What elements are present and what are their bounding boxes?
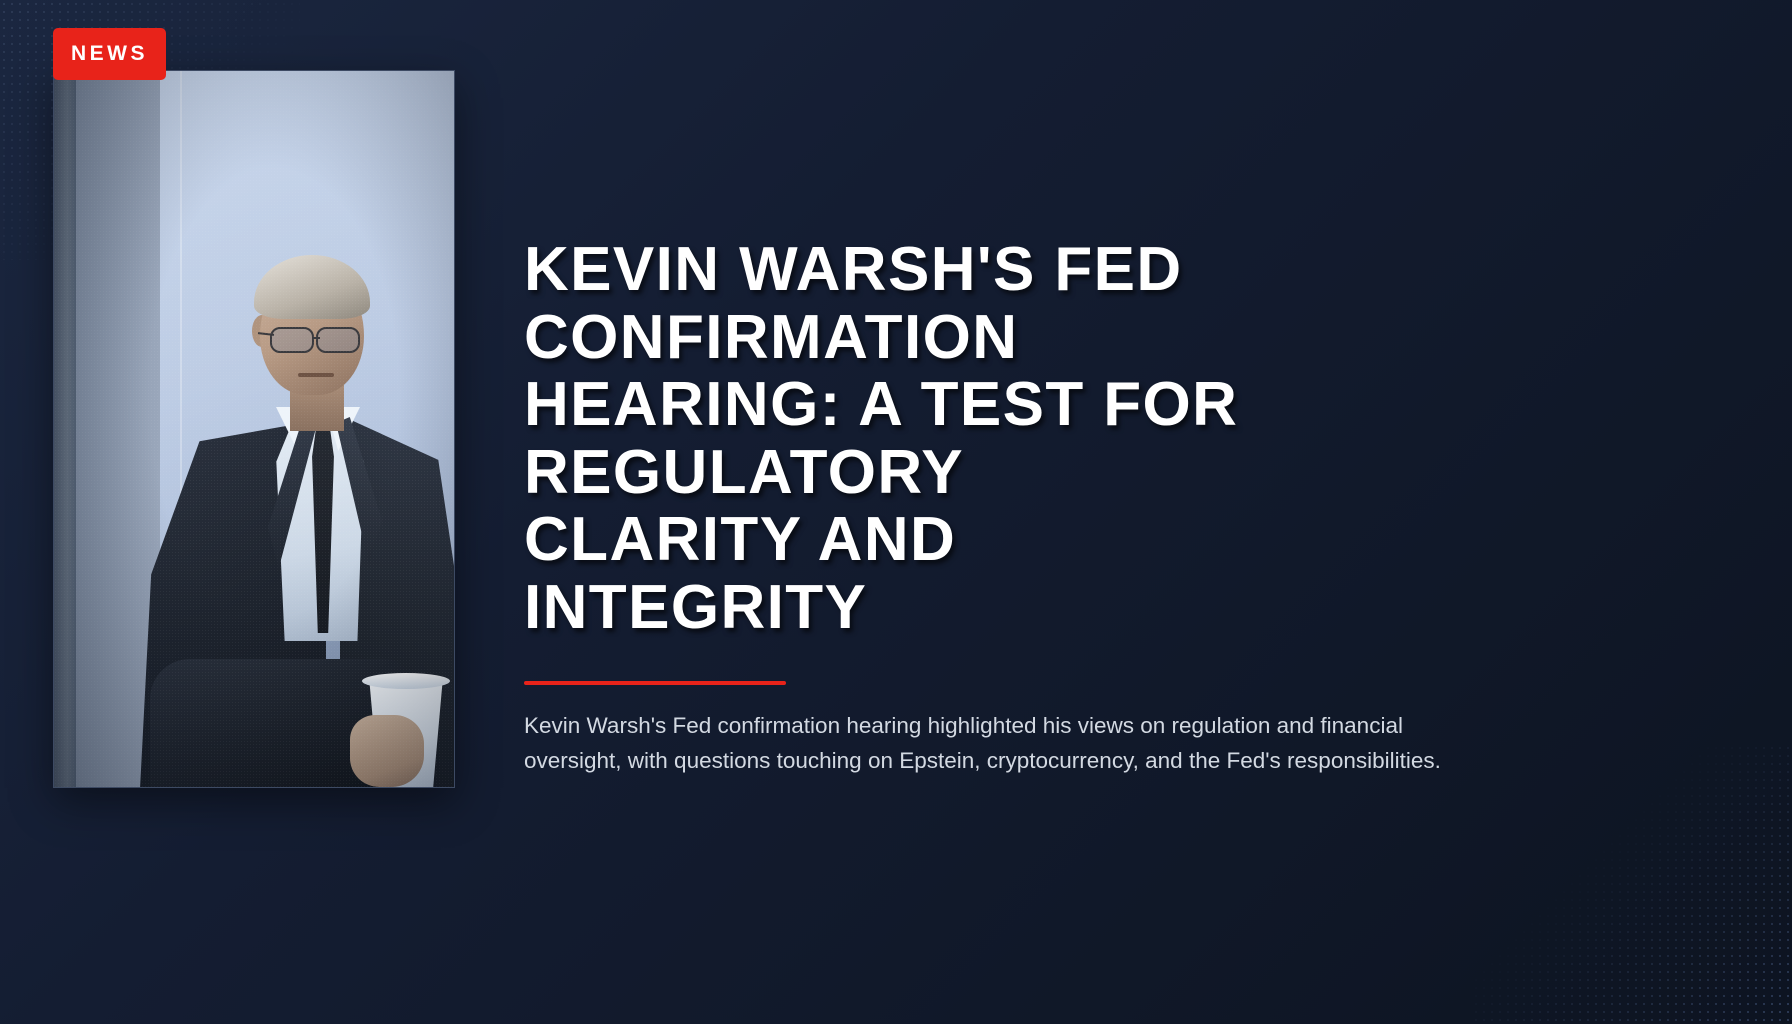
hand xyxy=(350,715,424,787)
dot-texture-bottom-right xyxy=(1472,744,1792,1024)
eyeglasses-right-lens xyxy=(316,327,360,353)
news-card: NEWS xyxy=(0,0,1792,1024)
news-badge-label: NEWS xyxy=(71,42,148,66)
eyeglasses-bridge xyxy=(312,337,320,339)
news-badge: NEWS xyxy=(53,28,166,80)
article-content: Kevin Warsh's Fed Confirmation Hearing: … xyxy=(524,236,1464,778)
paper-cup-rim xyxy=(362,673,450,689)
article-photo-frame xyxy=(53,70,455,788)
mouth xyxy=(298,373,334,377)
photo-subject xyxy=(54,71,454,787)
article-photo xyxy=(54,71,454,787)
eyeglasses-left-lens xyxy=(270,327,314,353)
accent-divider xyxy=(524,681,786,685)
hair xyxy=(254,255,370,319)
article-headline: Kevin Warsh's Fed Confirmation Hearing: … xyxy=(524,236,1254,641)
article-description: Kevin Warsh's Fed confirmation hearing h… xyxy=(524,709,1454,777)
